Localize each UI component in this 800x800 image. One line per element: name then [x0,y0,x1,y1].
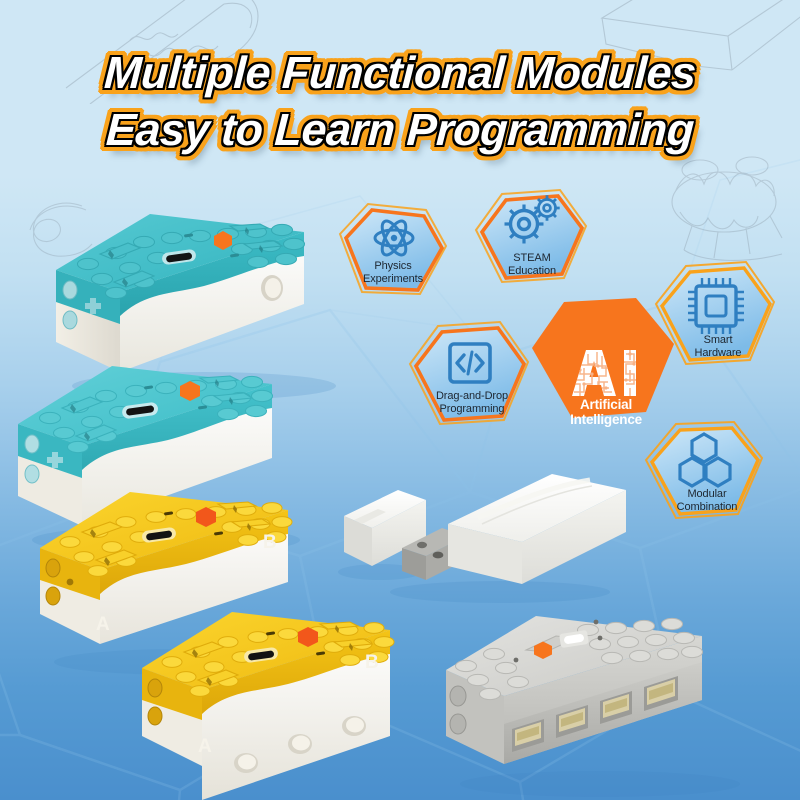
ai-label: Artificial Intelligence [524,397,688,427]
poster-canvas: Multiple Functional Modules Easy to Lear… [0,0,800,800]
title-line-2: Easy to Learn Programming [0,101,800,158]
badge-drag-and-drop-programming[interactable]: Drag-and-Drop Programming [400,312,544,452]
badge-hex-body [482,196,582,278]
product-yellow-motor-lower: A B [140,600,430,800]
dongle-body [448,474,626,584]
product-gray-controller-hub [440,596,760,796]
title-line-1: Multiple Functional Modules [0,44,800,101]
badge-physics-experiments[interactable]: Physics Experiments [330,198,456,328]
badge-artificial-intelligence[interactable]: Artificial Intelligence [524,292,688,460]
port-label-b: B [365,652,379,673]
port-label-a: A [96,614,110,635]
port-label-b: B [263,532,277,553]
poster-title: Multiple Functional Modules Easy to Lear… [0,44,800,158]
product-usb-dongle [340,476,630,606]
port-label-a: A [198,736,212,757]
